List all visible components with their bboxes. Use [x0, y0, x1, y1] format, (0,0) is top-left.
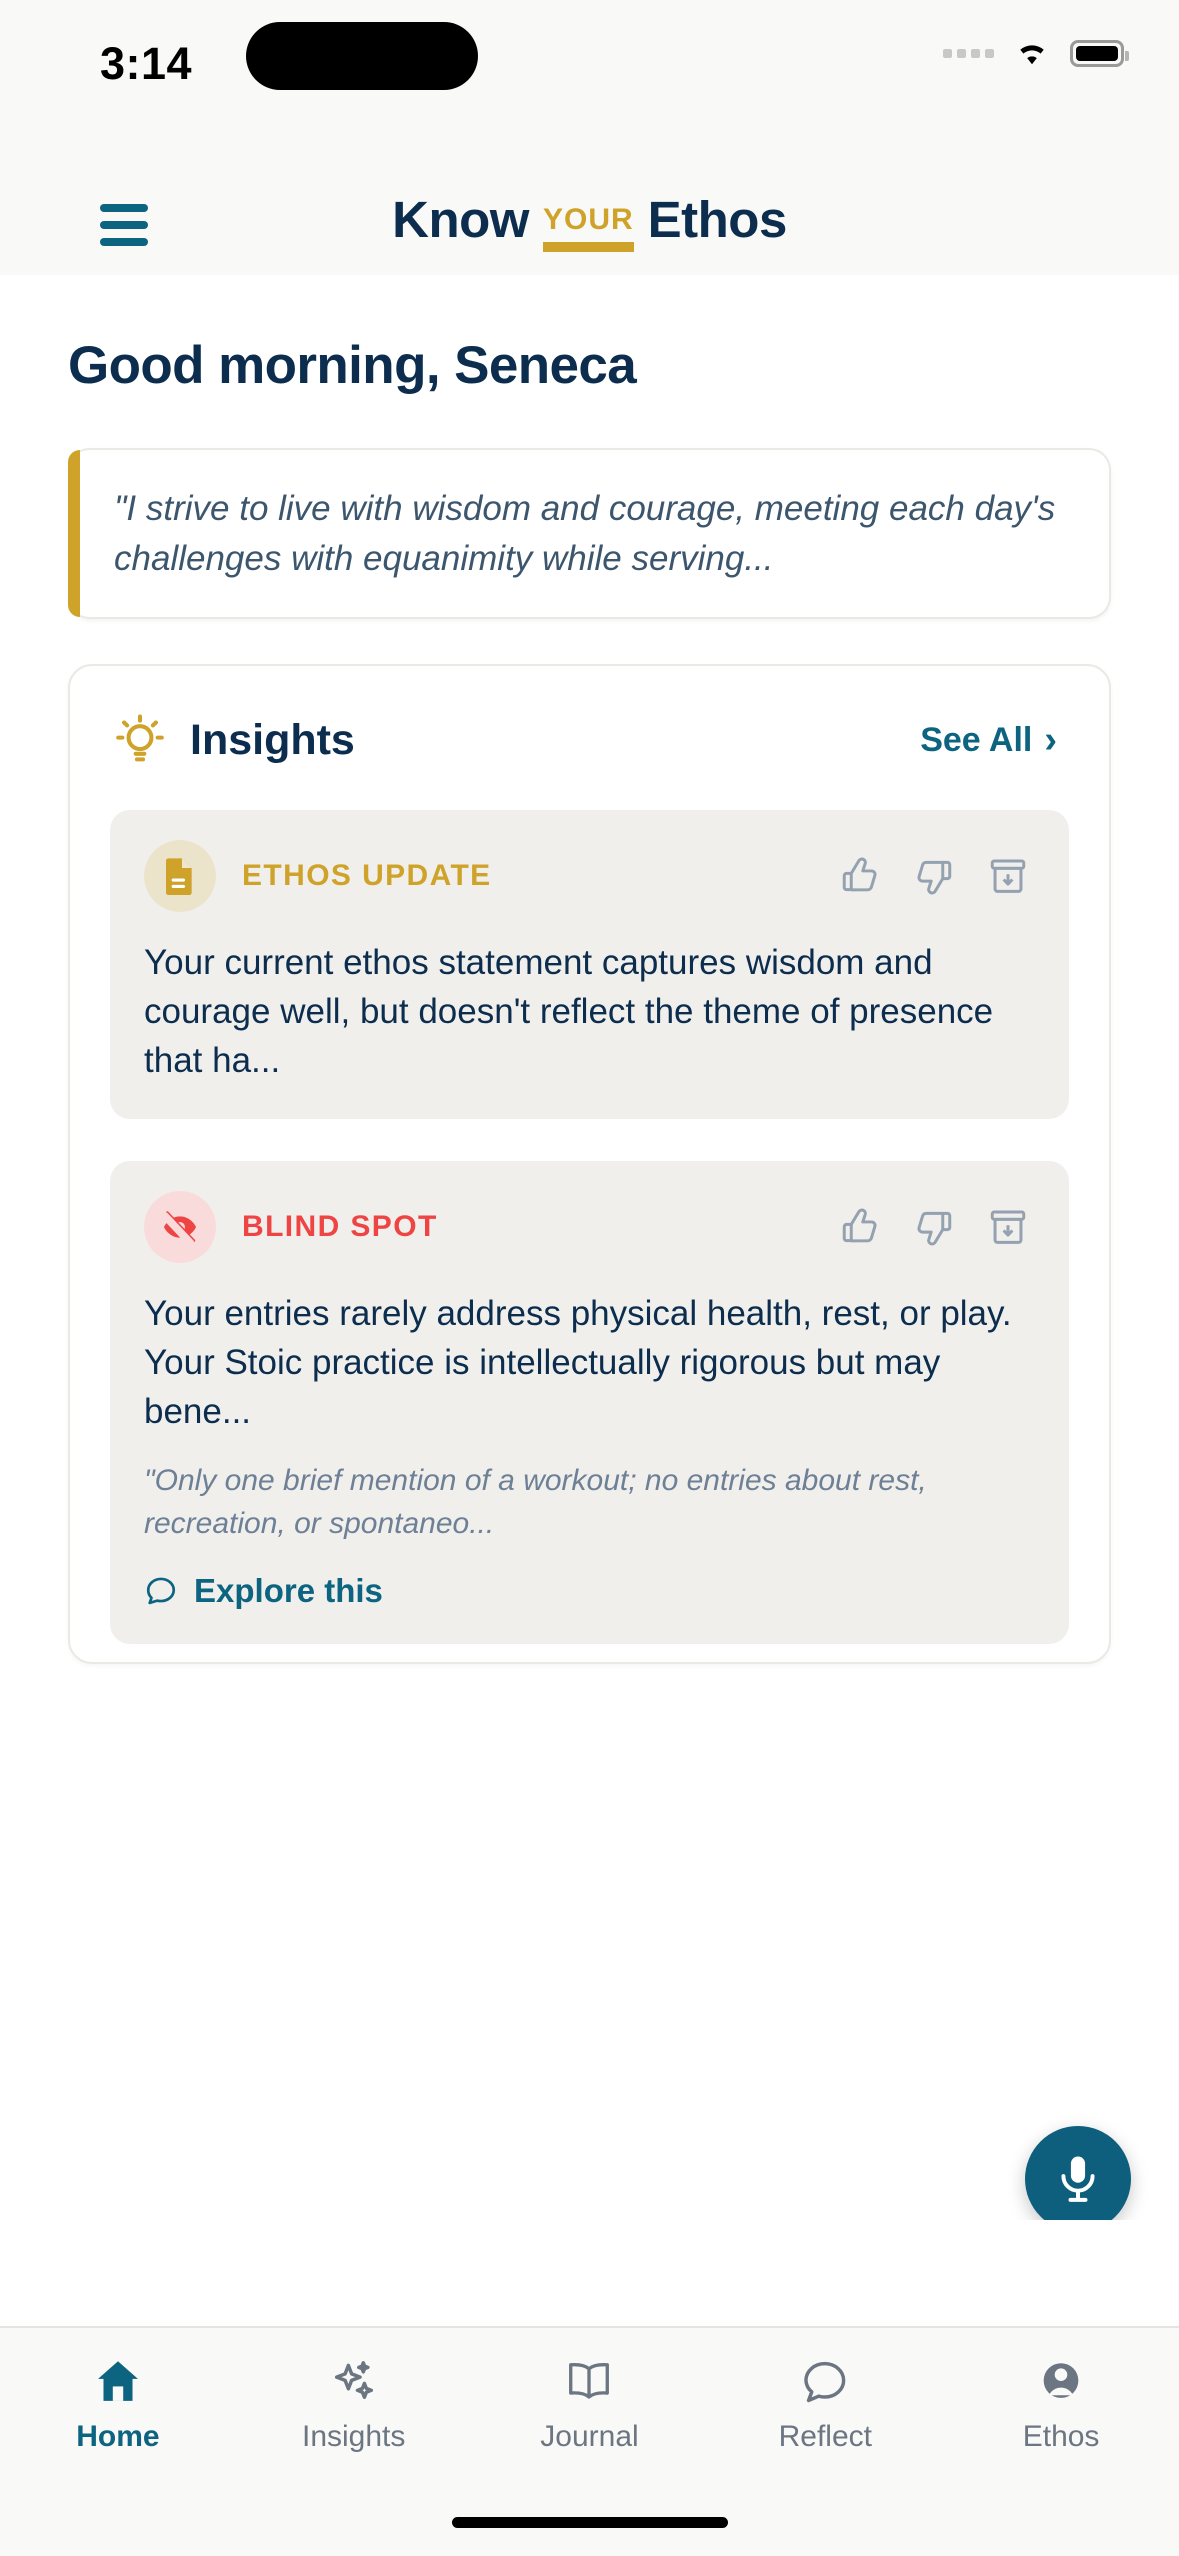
insight-card-blind-spot[interactable]: BLIND SPOT — [110, 1161, 1069, 1643]
tab-home[interactable]: Home — [0, 2356, 236, 2454]
tab-home-label: Home — [76, 2420, 159, 2454]
status-bar-icons — [943, 38, 1124, 68]
thumbs-up-icon[interactable] — [839, 1206, 881, 1248]
status-bar: 3:14 — [0, 0, 1179, 175]
ethos-quote-card[interactable]: "I strive to live with wisdom and courag… — [68, 448, 1111, 619]
dynamic-island — [246, 22, 478, 90]
microphone-icon — [1053, 2151, 1103, 2207]
cellular-dots-icon — [943, 49, 994, 58]
insight-kicker: BLIND SPOT — [242, 1210, 839, 1244]
battery-icon — [1070, 40, 1124, 67]
tab-reflect-label: Reflect — [779, 2420, 872, 2454]
status-bar-time: 3:14 — [100, 38, 192, 90]
insights-panel: Insights See All › — [68, 664, 1111, 1664]
brand-know: Know — [392, 190, 529, 249]
tab-journal[interactable]: Journal — [472, 2356, 708, 2454]
app-screen: 3:14 Know YOUR Ethos Good morning, Senec… — [0, 0, 1179, 2556]
bottom-navigation: Home Insights Journal Reflect — [0, 2326, 1179, 2556]
insight-body: Your entries rarely address physical hea… — [144, 1289, 1035, 1436]
archive-icon[interactable] — [987, 855, 1029, 897]
insights-title: Insights — [190, 716, 355, 765]
home-indicator — [452, 2517, 728, 2528]
see-all-link[interactable]: See All › — [920, 721, 1057, 760]
speech-bubble-icon — [144, 1574, 178, 1608]
tab-journal-label: Journal — [540, 2420, 638, 2454]
sparkles-icon — [328, 2356, 380, 2406]
insight-body: Your current ethos statement captures wi… — [144, 938, 1035, 1085]
insights-header-left: Insights — [114, 712, 355, 768]
explore-this-label: Explore this — [194, 1572, 383, 1610]
greeting-title: Good morning, Seneca — [0, 275, 1179, 396]
insight-badge — [144, 1191, 216, 1263]
ethos-quote-text: "I strive to live with wisdom and courag… — [114, 484, 1069, 583]
eye-off-icon — [160, 1207, 200, 1247]
explore-this-link[interactable]: Explore this — [144, 1572, 1035, 1610]
insight-card-ethos-update[interactable]: ETHOS UPDATE — [110, 810, 1069, 1119]
thumbs-up-icon[interactable] — [839, 855, 881, 897]
app-title: Know YOUR Ethos — [392, 190, 787, 260]
voice-record-button[interactable] — [1025, 2126, 1131, 2220]
main-content: Good morning, Seneca "I strive to live w… — [0, 275, 1179, 2220]
insight-kicker: ETHOS UPDATE — [242, 859, 839, 893]
tab-insights-label: Insights — [302, 2420, 405, 2454]
chevron-right-icon: › — [1044, 721, 1057, 759]
brand-ethos: Ethos — [648, 190, 787, 249]
app-header: Know YOUR Ethos — [0, 175, 1179, 275]
tab-ethos[interactable]: Ethos — [943, 2356, 1179, 2454]
wifi-icon — [1012, 38, 1052, 68]
insight-evidence: "Only one brief mention of a workout; no… — [144, 1460, 1035, 1545]
archive-icon[interactable] — [987, 1206, 1029, 1248]
insight-card-header: BLIND SPOT — [144, 1191, 1035, 1263]
insight-actions — [839, 855, 1035, 897]
see-all-label: See All — [920, 721, 1032, 760]
document-icon — [162, 856, 198, 896]
tab-ethos-label: Ethos — [1023, 2420, 1100, 2454]
lightbulb-icon — [114, 712, 166, 768]
person-icon — [1035, 2356, 1087, 2406]
insight-badge — [144, 840, 216, 912]
brand-your: YOUR — [543, 205, 634, 252]
hamburger-icon[interactable] — [100, 204, 148, 246]
thumbs-down-icon[interactable] — [913, 855, 955, 897]
insight-actions — [839, 1206, 1035, 1248]
insight-card-header: ETHOS UPDATE — [144, 840, 1035, 912]
chat-icon — [799, 2356, 851, 2406]
book-icon — [562, 2356, 616, 2406]
thumbs-down-icon[interactable] — [913, 1206, 955, 1248]
tab-insights[interactable]: Insights — [236, 2356, 472, 2454]
tab-reflect[interactable]: Reflect — [707, 2356, 943, 2454]
home-icon — [92, 2356, 144, 2406]
insights-header: Insights See All › — [110, 712, 1069, 768]
